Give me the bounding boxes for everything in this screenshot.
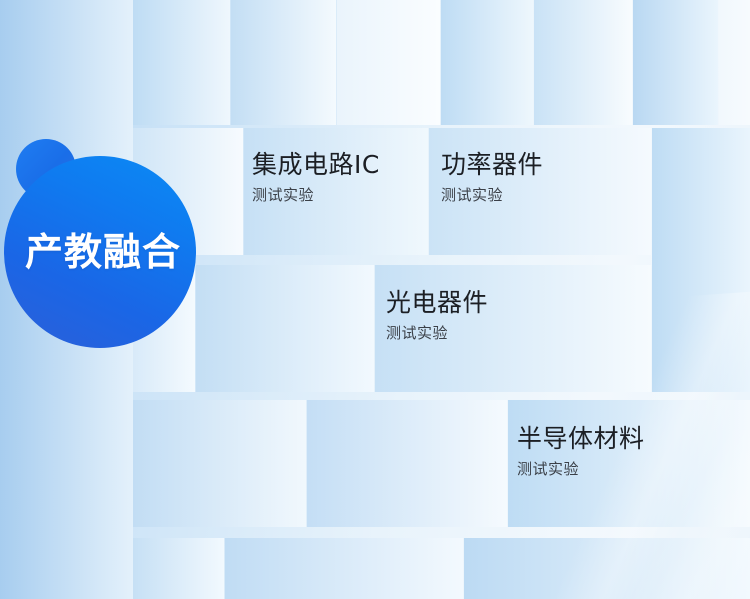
card-title: 半导体材料	[517, 424, 645, 454]
background-tile	[337, 0, 440, 125]
card-subtitle: 测试实验	[441, 186, 543, 204]
background-tile	[196, 265, 374, 392]
background-tile	[534, 0, 632, 125]
background-tile	[633, 0, 718, 125]
background-tile	[133, 0, 230, 125]
background-tile	[307, 400, 507, 527]
card-semiconductor[interactable]: 半导体材料测试实验	[517, 424, 645, 478]
card-ic[interactable]: 集成电路IC测试实验	[252, 150, 380, 204]
card-subtitle: 测试实验	[386, 324, 488, 342]
card-title: 集成电路IC	[252, 150, 380, 180]
background-tile	[133, 400, 306, 527]
background-tile	[652, 128, 750, 392]
badge: 产教融合	[0, 130, 210, 355]
background-tile	[133, 538, 224, 599]
card-power-device[interactable]: 功率器件测试实验	[441, 150, 543, 204]
background-tile	[441, 0, 533, 125]
card-title: 功率器件	[441, 150, 543, 180]
background-tile	[719, 0, 750, 125]
promo-banner: 产教融合 集成电路IC测试实验功率器件测试实验光电器件测试实验半导体材料测试实验	[0, 0, 750, 599]
card-title: 光电器件	[386, 288, 488, 318]
card-subtitle: 测试实验	[517, 460, 645, 478]
background-tile	[464, 538, 750, 599]
card-subtitle: 测试实验	[252, 186, 380, 204]
background-tile	[225, 538, 463, 599]
background-tile	[231, 0, 336, 125]
badge-label: 产教融合	[0, 156, 196, 348]
card-optoelectronic[interactable]: 光电器件测试实验	[386, 288, 488, 342]
